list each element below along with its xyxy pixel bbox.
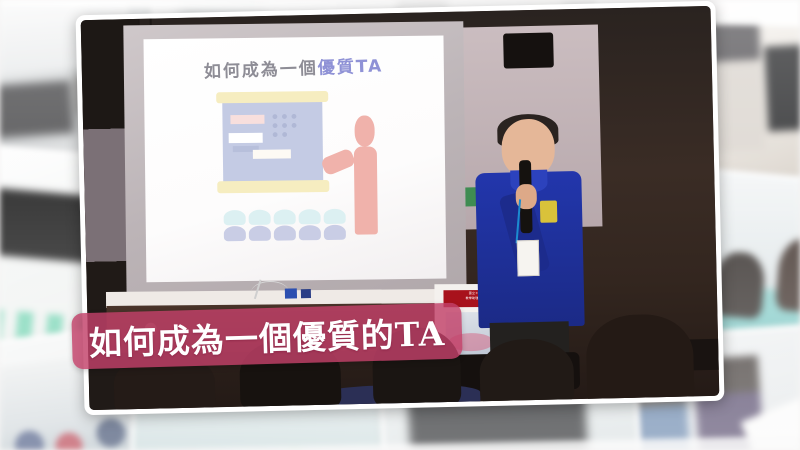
slide-title-accent: 優質TA	[318, 57, 384, 79]
illustration-whiteboard	[222, 100, 323, 184]
illustration-presenter-figure	[344, 115, 386, 234]
illustration-audience-row-back	[224, 209, 346, 225]
projection-screen: 如何成為一個優質TA	[123, 21, 467, 314]
speaker-shirt-emblem	[540, 201, 558, 223]
slide-title: 如何成為一個優質TA	[144, 50, 444, 85]
slide-title-plain: 如何成為一個	[204, 59, 319, 83]
slide-illustration	[222, 90, 380, 252]
illustration-dot-grid	[270, 112, 298, 137]
presentation-slide: 如何成為一個優質TA	[144, 36, 446, 282]
desk-device-blue-2	[301, 289, 311, 298]
whiteboard-top-bar	[216, 91, 328, 104]
ceiling-speaker	[503, 33, 554, 69]
title-banner-text: 如何成為一個優質的TA	[88, 307, 446, 365]
audience-head	[479, 338, 575, 407]
audience-head	[585, 313, 694, 405]
desk-device-blue	[285, 288, 297, 298]
speaker-name-badge	[517, 240, 540, 277]
illustration-audience-row-front	[224, 225, 346, 241]
video-title-card: 如何成為一個優質TA	[0, 0, 800, 450]
title-banner: 如何成為一個優質的TA	[71, 303, 462, 370]
whiteboard-bottom-bar	[217, 180, 329, 193]
